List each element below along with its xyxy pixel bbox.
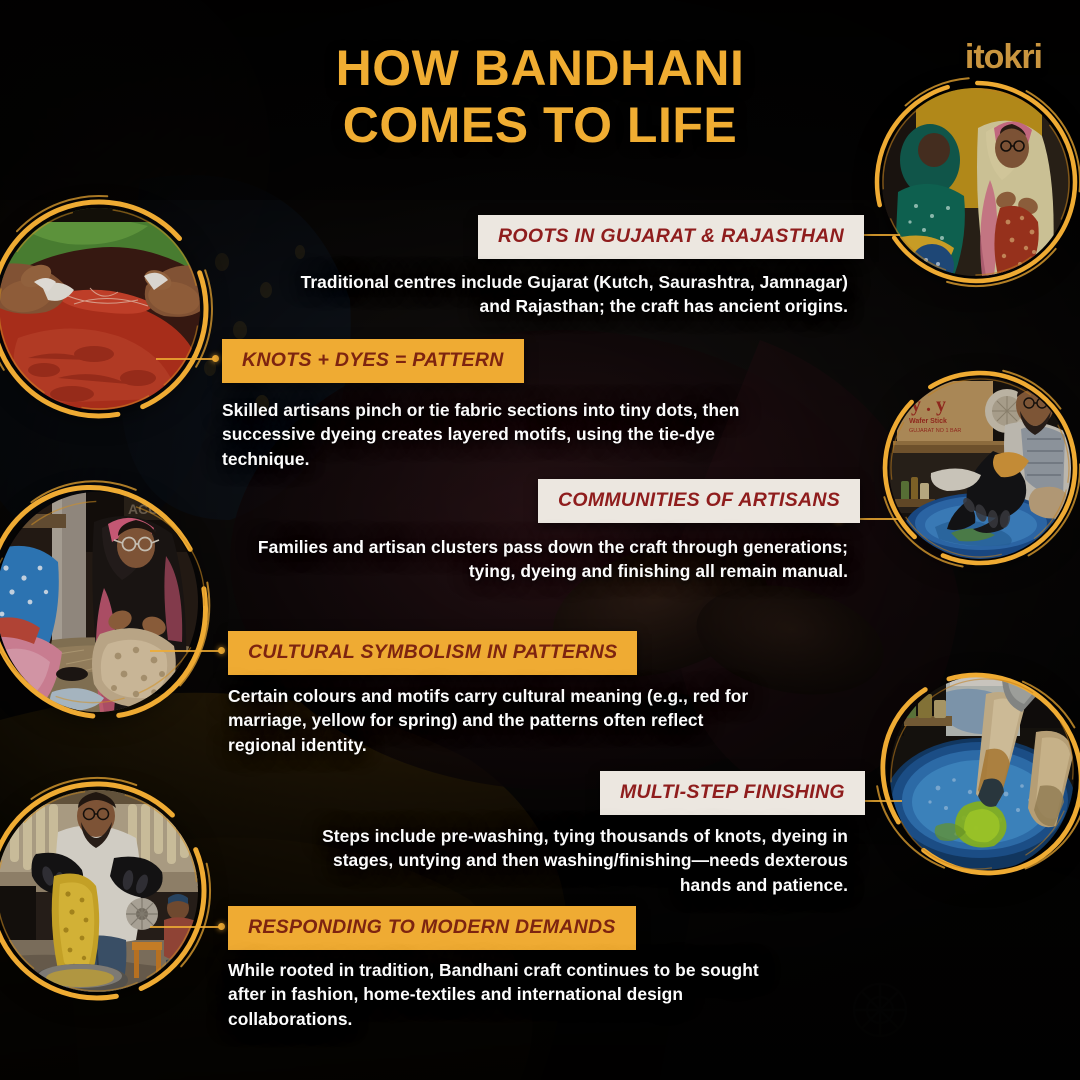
section-body-knots-dyes-pattern: Skilled artisans pinch or tie fabric sec…	[222, 398, 752, 471]
section-body-communities-of-artisans: Families and artisan clusters pass down …	[250, 535, 848, 584]
section-body-cultural-symbolism-in-patterns: Certain colours and motifs carry cultura…	[228, 684, 774, 757]
section-badge-communities-of-artisans: COMMUNITIES OF ARTISANS	[538, 479, 860, 523]
section-badge-responding-to-modern-demands: RESPONDING TO MODERN DEMANDS	[228, 906, 636, 950]
section-badge-knots-dyes-pattern: KNOTS + DYES = PATTERN	[222, 339, 524, 383]
page-title-line-1: HOW BANDHANI	[0, 40, 1080, 97]
brand-logo: itokri	[965, 38, 1042, 77]
section-body-multi-step-finishing: Steps include pre-washing, tying thousan…	[318, 824, 848, 897]
section-body-responding-to-modern-demands: While rooted in tradition, Bandhani craf…	[228, 958, 784, 1031]
page-title-line-2: COMES TO LIFE	[0, 97, 1080, 154]
section-badge-roots-in-gujarat-rajasthan: ROOTS IN GUJARAT & RAJASTHAN	[478, 215, 864, 259]
section-badge-cultural-symbolism-in-patterns: CULTURAL SYMBOLISM IN PATTERNS	[228, 631, 637, 675]
page-title: HOW BANDHANI COMES TO LIFE	[0, 40, 1080, 153]
section-badge-multi-step-finishing: MULTI-STEP FINISHING	[600, 771, 865, 815]
section-body-roots-in-gujarat-rajasthan: Traditional centres include Gujarat (Kut…	[270, 270, 848, 319]
